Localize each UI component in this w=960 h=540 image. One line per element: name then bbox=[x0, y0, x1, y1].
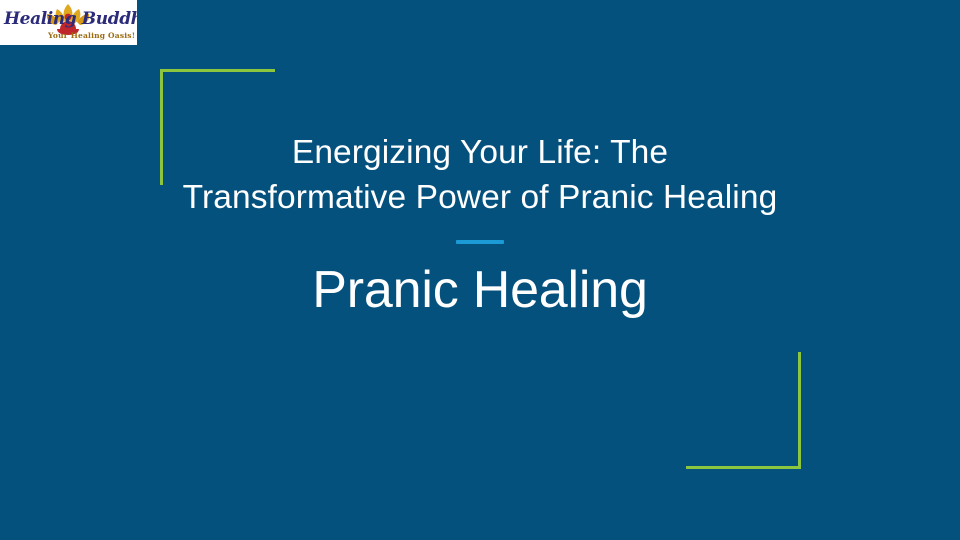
logo-wordmark: Healing Buddha bbox=[4, 8, 134, 30]
logo-tagline: Your Healing Oasis! bbox=[48, 31, 136, 40]
healing-buddha-logo: Healing Buddha Your Healing Oasis! bbox=[0, 0, 137, 45]
corner-bracket-top-left-horizontal bbox=[160, 69, 275, 72]
slide-subtitle: Pranic Healing bbox=[178, 258, 782, 322]
corner-bracket-bottom-right-vertical bbox=[798, 352, 801, 469]
corner-bracket-bottom-right-horizontal bbox=[686, 466, 801, 469]
slide-text-block: Energizing Your Life: The Transformative… bbox=[178, 130, 782, 322]
corner-bracket-top-left-vertical bbox=[160, 69, 163, 185]
presentation-slide: Healing Buddha Your Healing Oasis! Energ… bbox=[0, 0, 960, 540]
title-divider-rule bbox=[456, 240, 504, 244]
slide-title: Energizing Your Life: The Transformative… bbox=[178, 130, 782, 220]
